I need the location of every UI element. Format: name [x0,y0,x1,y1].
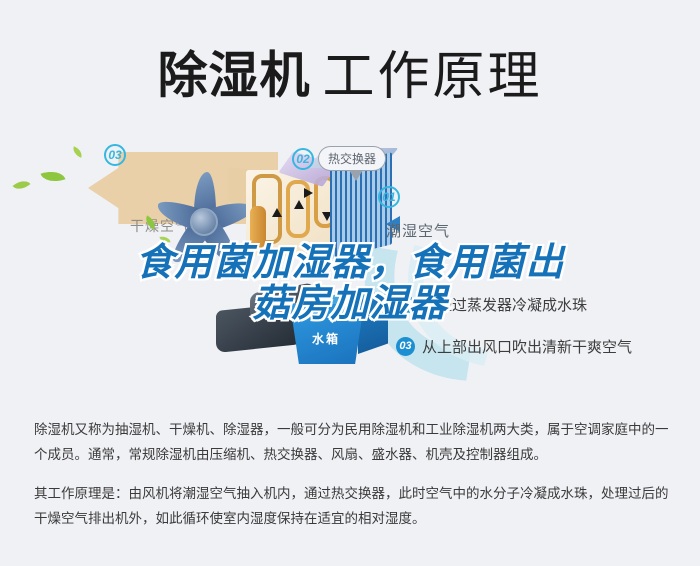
badge-01: 01 [378,186,400,208]
leaf-icon [13,176,31,193]
overlay-line-2: 菇房加湿器 [0,284,700,325]
heat-exchanger-callout: 热交换器 [318,146,386,171]
flow-arrow-up-icon [272,208,282,217]
leaf-icon [71,146,84,158]
humid-air-label: 潮湿空气 [386,220,450,241]
caption-step-03: 03 从上部出风口吹出清新干爽空气 [396,336,632,357]
page-title-light: 工作原理 [322,48,542,106]
badge-02: 02 [292,148,314,170]
badge-03: 03 [104,144,126,166]
body-paragraph-2: 其工作原理是：由风机将潮湿空气抽入机内，通过热交换器，此时空气中的水分子冷凝成水… [34,482,670,532]
overlay-watermark: 食用菌加湿器，食用菌出 菇房加湿器 [0,243,700,325]
flow-arrow-right-icon [304,188,313,198]
caption-badge-03: 03 [396,337,415,356]
caption-text-03: 从上部出风口吹出清新干爽空气 [422,336,632,357]
body-paragraph-1: 除湿机又称为抽湿机、干燥机、除湿器，一般可分为民用除湿机和工业除湿机两大类，属于… [34,418,670,468]
flow-arrow-up-icon [294,200,304,209]
page-title-bold: 除湿机 [157,48,310,104]
page-title: 除湿机工作原理 [0,34,700,109]
body-text: 除湿机又称为抽湿机、干燥机、除湿器，一般可分为民用除湿机和工业除湿机两大类，属于… [34,418,670,532]
leaf-icon [41,167,66,186]
water-tank-label: 水箱 [312,330,340,347]
page-root: 除湿机工作原理 干燥空气 [0,0,700,566]
overlay-line-1: 食用菌加湿器，食用菌出 [0,243,700,284]
